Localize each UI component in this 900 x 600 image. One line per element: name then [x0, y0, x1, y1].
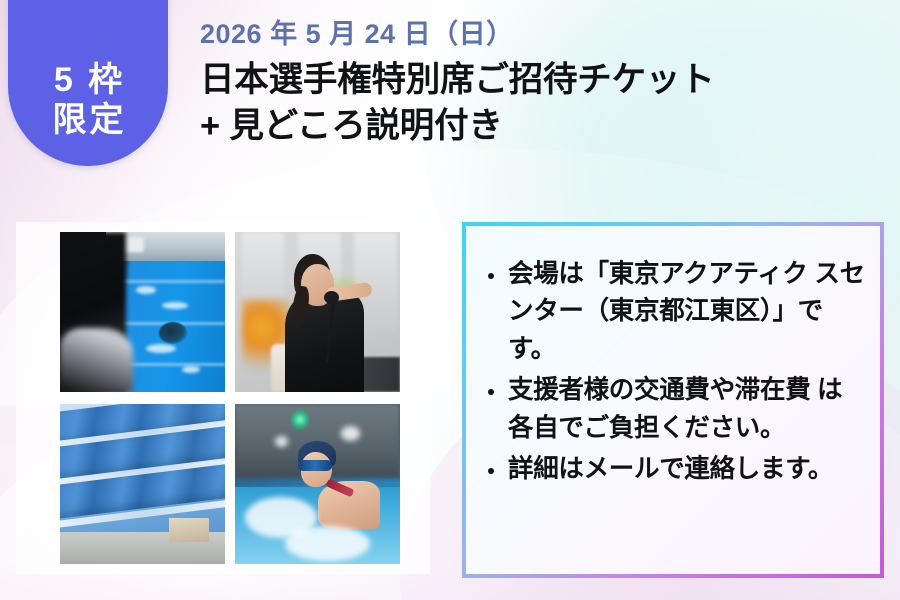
list-item: 詳細はメールで連絡します。 — [484, 451, 866, 488]
list-item: 会場は「東京アクアティク スセンター（東京都江東区）」です。 — [484, 256, 866, 368]
water-splash — [285, 526, 371, 561]
lane-line-1 — [110, 280, 226, 283]
water-sparkle — [162, 302, 188, 309]
water-sparkle — [146, 344, 176, 353]
page-title-line-2: + 見どころ説明付き — [200, 104, 890, 150]
event-date: 2026 年 5 月 24 日（日） — [200, 18, 890, 50]
notes-box: 会場は「東京アクアティク スセンター（東京都江東区）」です。 支援者様の交通費や… — [462, 222, 884, 578]
notes-box-inner: 会場は「東京アクアティク スセンター（東京都江東区）」です。 支援者様の交通費や… — [466, 226, 880, 574]
photo-coach-with-microphone — [235, 232, 400, 392]
list-item: 支援者様の交通費や滞在費 は各自でご負担ください。 — [484, 372, 866, 447]
water-sparkle — [182, 366, 200, 373]
badge-line-limited: 限定 — [50, 100, 127, 140]
limited-slots-badge: 5 枠 限定 — [8, 0, 168, 166]
photo-pool-lane-swimmer — [60, 232, 225, 392]
green-lamp — [291, 409, 309, 430]
notes-list: 会場は「東京アクアティク スセンター（東京都江東区）」です。 支援者様の交通費や… — [484, 256, 866, 493]
photo-blue-stadium-seats — [60, 404, 225, 564]
foreground-blur-chair — [60, 328, 133, 392]
header: 2026 年 5 月 24 日（日） 日本選手権特別席ご招待チケット + 見どこ… — [200, 18, 890, 149]
swimmer-silhouette — [159, 322, 187, 344]
microphone-head — [324, 291, 339, 304]
water-droplet — [275, 436, 288, 447]
goggles — [298, 460, 333, 471]
badge-line-count: 5 枠 — [51, 60, 125, 100]
photo-swimmer-butterfly — [235, 404, 400, 564]
page-title-line-1: 日本選手権特別席ご招待チケット — [200, 58, 890, 104]
step-block — [169, 518, 209, 542]
water-sparkle — [136, 286, 156, 294]
photo-grid — [60, 232, 400, 564]
water-droplet — [341, 426, 361, 440]
